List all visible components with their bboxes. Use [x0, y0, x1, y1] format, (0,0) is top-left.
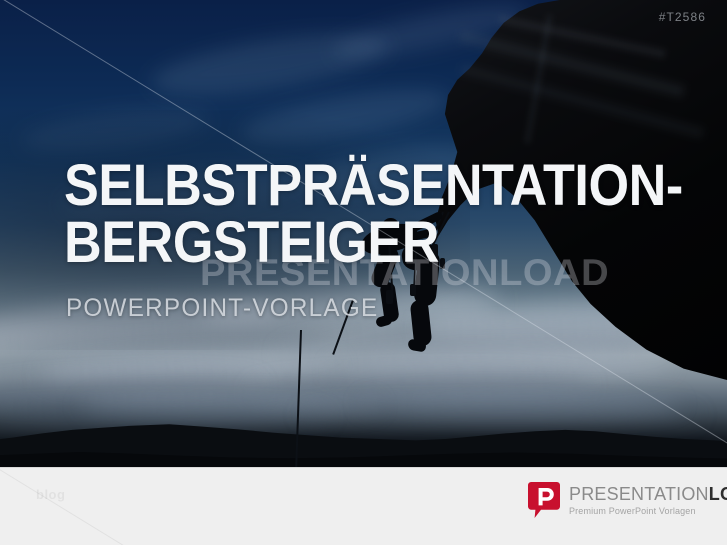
slide-title-line-1: SELBSTPRÄSENTATION- [64, 158, 532, 215]
climbing-gear [410, 284, 416, 296]
logo-brand-part2: LOAD [709, 484, 727, 504]
cloud-bank [0, 408, 330, 426]
logo-tagline: Premium PowerPoint Vorlagen [569, 506, 727, 516]
logo-brand-name: PRESENTATIONLOAD® [569, 485, 727, 503]
logo-brand-part1: PRESENTATION [569, 484, 709, 504]
blog-watermark: blog [36, 487, 65, 502]
presentationload-logo[interactable]: PRESENTATIONLOAD® Premium PowerPoint Vor… [528, 482, 727, 518]
slide-title-line-2: BERGSTEIGER [64, 215, 532, 272]
speech-bubble-p-icon [528, 482, 560, 518]
template-id-label: #T2586 [659, 10, 706, 24]
presentation-title-slide: PRESENTATIONLOAD SELBSTPRÄSENTATION- BER… [0, 0, 727, 545]
climbing-gear [386, 290, 393, 304]
hero-photo: PRESENTATIONLOAD SELBSTPRÄSENTATION- BER… [0, 0, 727, 467]
slide-title: SELBSTPRÄSENTATION- BERGSTEIGER [64, 158, 532, 272]
cloud-bank [300, 406, 700, 424]
logo-wordmark: PRESENTATIONLOAD® Premium PowerPoint Vor… [569, 482, 727, 516]
slide-subtitle: POWERPOINT-VORLAGE [66, 294, 378, 323]
footer-divider [0, 467, 727, 468]
